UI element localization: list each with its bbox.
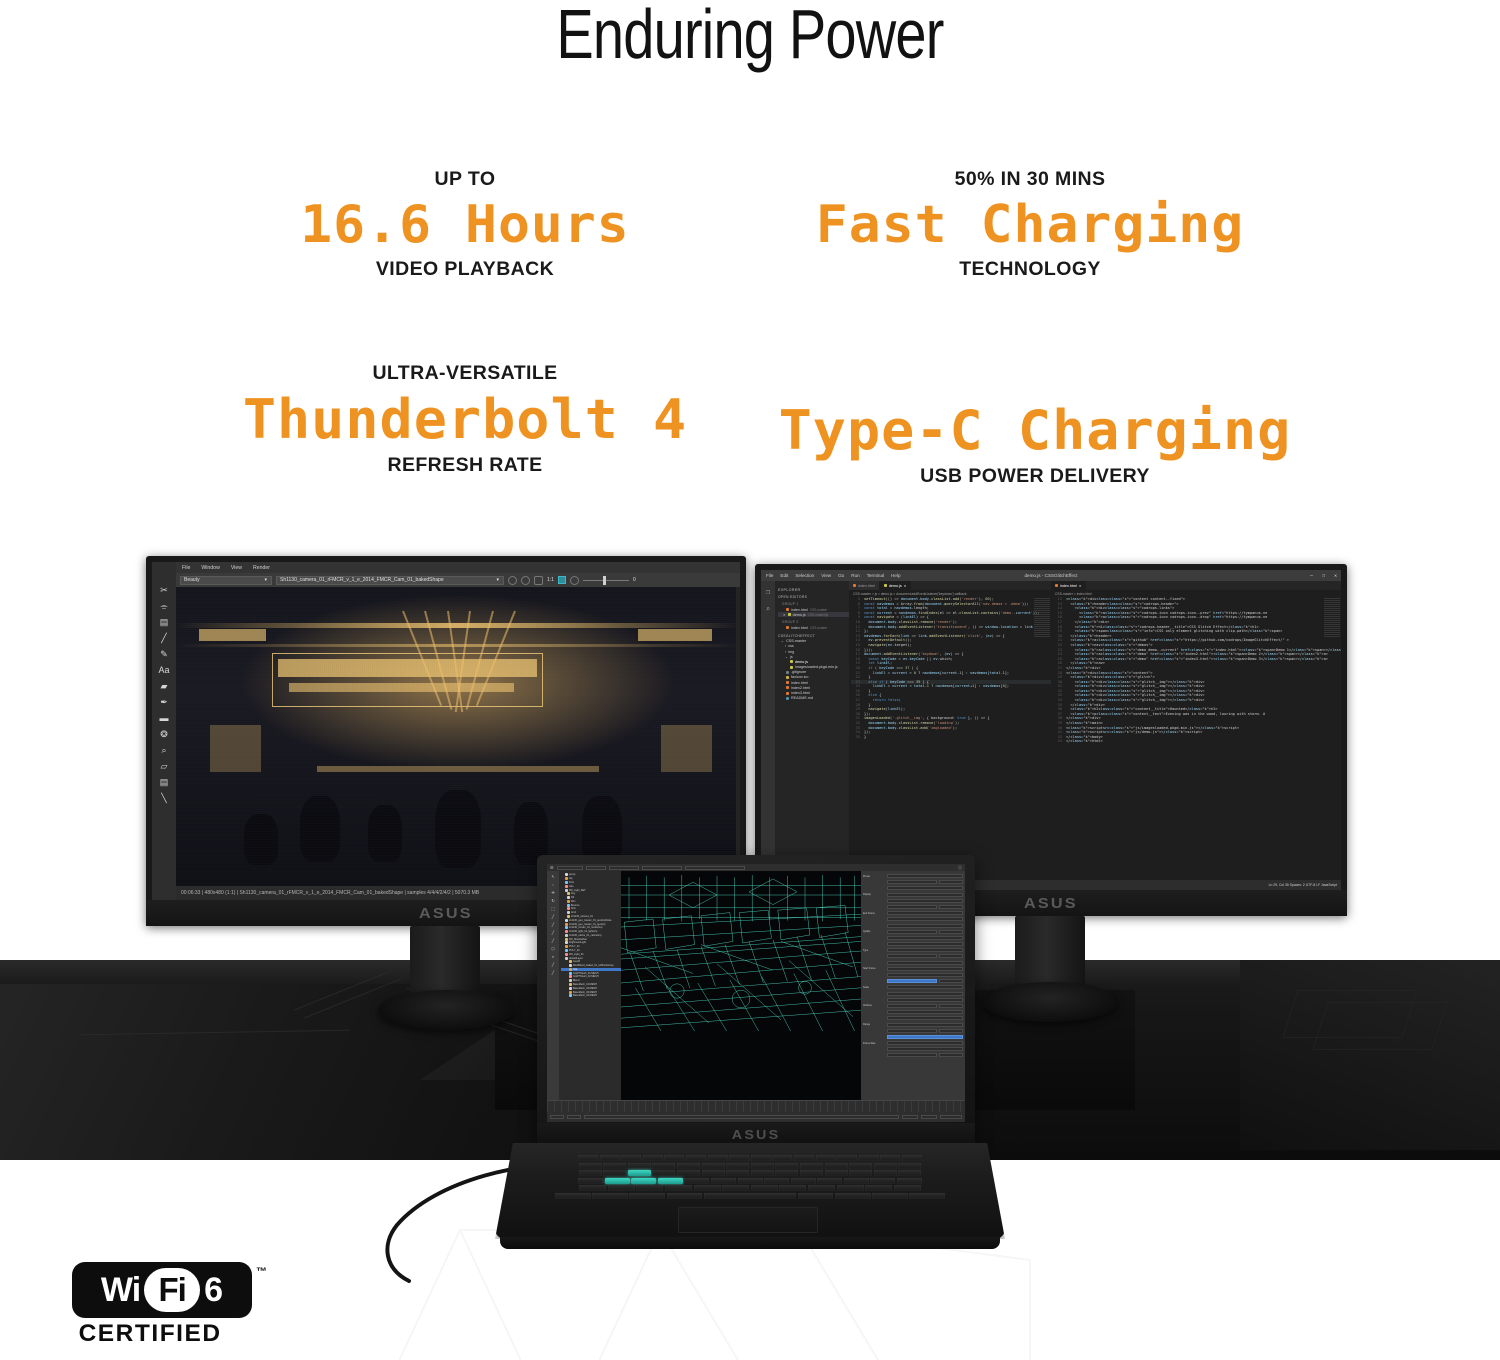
- keyboard-key[interactable]: [835, 1193, 871, 1199]
- attribute-field-secondary[interactable]: [939, 880, 963, 884]
- object-icon: [569, 960, 572, 963]
- menu-item-run[interactable]: Run: [851, 573, 859, 578]
- keyboard-key[interactable]: [628, 1163, 651, 1169]
- keyboard-key[interactable]: [702, 1170, 725, 1176]
- outliner-item-label: Amb: [571, 911, 576, 914]
- attribute-field[interactable]: [887, 942, 963, 946]
- attribute-field[interactable]: [887, 936, 963, 940]
- attribute-row[interactable]: [863, 899, 963, 903]
- keyboard-key[interactable]: [555, 1193, 591, 1199]
- code-line: 43</class="k">html>: [1053, 739, 1341, 744]
- close-icon[interactable]: ✕: [783, 613, 786, 617]
- outliner-item[interactable]: BaseMesh_04:MESH: [561, 994, 621, 998]
- keyboard-key[interactable]: [894, 1185, 921, 1191]
- markdown-file-icon: [786, 697, 789, 700]
- attribute-field[interactable]: [887, 1010, 963, 1014]
- keyboard-key[interactable]: [621, 1155, 641, 1161]
- attribute-row[interactable]: [863, 1029, 963, 1033]
- editor-breadcrumb[interactable]: CSS-master > index.html: [1051, 590, 1341, 597]
- region-render-icon[interactable]: [558, 576, 566, 584]
- keyboard-row: [555, 1163, 945, 1169]
- attribute-field[interactable]: [887, 967, 963, 971]
- attribute-row[interactable]: End Frame: [863, 911, 963, 915]
- attribute-row[interactable]: [863, 917, 963, 921]
- keyboard-key[interactable]: [837, 1185, 864, 1191]
- attribute-row[interactable]: [863, 1010, 963, 1014]
- attribute-row[interactable]: Quality: [863, 930, 963, 934]
- attribute-field[interactable]: [887, 905, 937, 909]
- object-icon: [565, 930, 568, 933]
- laptop-trackpad[interactable]: [678, 1207, 818, 1233]
- tab-index-html[interactable]: index.html: [849, 581, 880, 590]
- gear-icon[interactable]: [570, 576, 579, 585]
- html-file-icon: [786, 692, 789, 695]
- close-icon[interactable]: ✕: [1079, 584, 1082, 588]
- keyboard-key[interactable]: [608, 1185, 635, 1191]
- keyboard-key[interactable]: [898, 1163, 921, 1169]
- lasso-icon[interactable]: ◌: [552, 882, 554, 887]
- laptop-keyboard[interactable]: [555, 1155, 945, 1203]
- outliner-item-label: top: [569, 877, 572, 880]
- measure-icon[interactable]: ╱: [552, 962, 554, 967]
- editor-minimap[interactable]: [1034, 598, 1050, 638]
- keyboard-key[interactable]: [667, 1193, 703, 1199]
- attribute-row[interactable]: Frame Rate: [863, 1041, 963, 1045]
- range-field[interactable]: [902, 1115, 918, 1119]
- attribute-field[interactable]: [887, 911, 963, 915]
- tree-item-label: README.md: [791, 696, 813, 700]
- keyboard-key[interactable]: [684, 1178, 709, 1184]
- keyboard-key[interactable]: [844, 1178, 869, 1184]
- keyboard-key[interactable]: [800, 1163, 823, 1169]
- attribute-row[interactable]: [863, 905, 963, 909]
- keyboard-key[interactable]: [629, 1193, 665, 1199]
- attribute-label: Type: [863, 949, 885, 952]
- outliner-item[interactable]: RootBlend_baked_01_refRootGroup: [561, 964, 621, 968]
- keyboard-key[interactable]: [652, 1163, 675, 1169]
- keyboard-key-highlighted[interactable]: [658, 1178, 683, 1184]
- feature-headline: Type-C Charging: [749, 402, 1320, 460]
- keyboard-key[interactable]: [817, 1178, 842, 1184]
- menu-icon[interactable]: ☰: [550, 865, 554, 870]
- keyboard-key[interactable]: [764, 1178, 789, 1184]
- eyedropper-icon[interactable]: ⌯: [160, 602, 167, 611]
- open-editor-path: CSS-master/js: [808, 613, 829, 617]
- pencil-icon[interactable]: ✎: [160, 650, 168, 659]
- attribute-field[interactable]: [887, 1035, 963, 1039]
- keyboard-key[interactable]: [816, 1155, 836, 1161]
- wireframe-render: [621, 871, 861, 1031]
- scale-icon[interactable]: ⬚: [551, 906, 555, 911]
- keyboard-key[interactable]: [837, 1155, 857, 1161]
- file-dropdown[interactable]: Sh1130_camera_01_rFMCR_v_1_e_2014_FMCR_C…: [276, 576, 504, 585]
- close-icon[interactable]: ✕: [904, 584, 907, 588]
- attribute-field[interactable]: [887, 979, 937, 983]
- section-project-root[interactable]: CSSGLITCHEFFECT: [778, 634, 849, 638]
- attribute-field-secondary[interactable]: [939, 1004, 963, 1008]
- keyboard-key[interactable]: [874, 1163, 897, 1169]
- text-tool-icon[interactable]: Aa: [158, 666, 169, 675]
- attribute-field[interactable]: [887, 917, 963, 921]
- attribute-field[interactable]: [887, 874, 963, 878]
- keyboard-key[interactable]: [872, 1193, 908, 1199]
- tab-demo-js[interactable]: demo.js ✕: [880, 581, 911, 590]
- attribute-row[interactable]: Start Frame: [863, 967, 963, 971]
- keyboard-key[interactable]: [603, 1163, 626, 1169]
- keyboard-key[interactable]: [751, 1155, 771, 1161]
- keyboard-key[interactable]: [694, 1185, 721, 1191]
- object-icon: [565, 923, 568, 926]
- keyboard-key[interactable]: [849, 1163, 872, 1169]
- feature-headline: Thunderbolt 4: [179, 391, 750, 449]
- keyboard-key[interactable]: [794, 1155, 814, 1161]
- keyboard-key-highlighted[interactable]: [631, 1178, 656, 1184]
- zoom-ratio-label[interactable]: 1:1: [547, 577, 554, 583]
- attribute-row[interactable]: [863, 1016, 963, 1020]
- attribute-field[interactable]: [887, 985, 963, 989]
- toolbar-field[interactable]: [586, 866, 606, 870]
- object-icon: [565, 953, 568, 956]
- keyboard-key[interactable]: [870, 1178, 895, 1184]
- attribute-row[interactable]: [863, 880, 963, 884]
- select-icon[interactable]: ↖: [551, 874, 554, 879]
- menu-item-terminal[interactable]: Terminal: [867, 573, 884, 578]
- color-wheel-icon[interactable]: ❂: [160, 730, 168, 739]
- object-icon: [569, 987, 572, 990]
- tree-item-label: css: [788, 644, 794, 648]
- folder-icon[interactable]: ▬: [160, 714, 169, 723]
- search-icon[interactable]: ⌕: [766, 605, 770, 613]
- attribute-row[interactable]: [863, 942, 963, 946]
- open-editor-item[interactable]: index.html CSS-master: [778, 625, 849, 630]
- html-file-icon: [853, 584, 856, 587]
- attribute-field[interactable]: [887, 893, 963, 897]
- keyboard-key[interactable]: [579, 1185, 606, 1191]
- attribute-row[interactable]: Preset: [863, 874, 963, 878]
- keyboard-key[interactable]: [798, 1193, 834, 1199]
- menu-item-view[interactable]: View: [231, 565, 242, 571]
- keyboard-key[interactable]: [779, 1185, 806, 1191]
- attribute-row[interactable]: Scale: [863, 985, 963, 989]
- line-icon[interactable]: ╱: [552, 970, 554, 975]
- rotate-icon[interactable]: ↻: [551, 898, 554, 903]
- keyboard-key[interactable]: [636, 1185, 663, 1191]
- keyboard-key[interactable]: [738, 1178, 763, 1184]
- keyboard-key[interactable]: [726, 1163, 749, 1169]
- object-icon: [565, 926, 568, 929]
- keyboard-key[interactable]: [578, 1155, 598, 1161]
- attribute-label: Scale: [863, 986, 885, 989]
- attribute-field-secondary[interactable]: [939, 1053, 963, 1057]
- feature-caption-top: ULTRA-VERSATILE: [185, 362, 745, 385]
- object-icon: [569, 991, 572, 994]
- keyboard-key[interactable]: [711, 1178, 736, 1184]
- js-file-icon: [790, 660, 793, 663]
- sculpt-icon[interactable]: ╱: [552, 922, 554, 927]
- menu-item-file[interactable]: File: [182, 565, 190, 571]
- zoom-icon[interactable]: ⌕: [552, 954, 554, 959]
- snap-icon[interactable]: ⬡: [551, 946, 555, 951]
- keyboard-key[interactable]: [791, 1178, 816, 1184]
- attribute-field-secondary[interactable]: [939, 905, 963, 909]
- keyboard-key[interactable]: [859, 1155, 879, 1161]
- toolbar-field[interactable]: [557, 866, 583, 870]
- tree-item-label: index2.html: [791, 686, 810, 690]
- keyboard-key[interactable]: [652, 1170, 675, 1176]
- chevron-down-icon: ▾: [264, 577, 267, 583]
- attribute-field-secondary[interactable]: [939, 954, 963, 958]
- close-icon[interactable]: ✕: [1334, 573, 1337, 579]
- attribute-field[interactable]: [887, 1023, 963, 1027]
- scissors-icon[interactable]: ✂: [160, 586, 168, 595]
- attribute-row[interactable]: Range: [863, 1023, 963, 1027]
- attribute-row[interactable]: [863, 961, 963, 965]
- menu-item-window[interactable]: Window: [201, 565, 219, 571]
- asus-laptop: ☰ ⓘ ↖ ◌ ✛ ↻ ⬚ ╱: [495, 855, 1005, 1275]
- 3d-timeline[interactable]: [547, 1100, 965, 1112]
- range-field[interactable]: [921, 1115, 937, 1119]
- keyboard-key[interactable]: [751, 1163, 774, 1169]
- pin-icon[interactable]: [534, 576, 543, 585]
- keyboard-key[interactable]: [603, 1170, 626, 1176]
- attribute-field[interactable]: [887, 961, 963, 965]
- menu-item-edit[interactable]: Edit: [780, 573, 788, 578]
- attribute-field[interactable]: [887, 1029, 937, 1033]
- move-icon[interactable]: ✛: [551, 890, 554, 895]
- attribute-field[interactable]: [887, 924, 963, 928]
- attribute-field[interactable]: [887, 1047, 963, 1051]
- tab-label: index.html: [1060, 584, 1077, 588]
- attribute-field[interactable]: [887, 973, 963, 977]
- snapshot-icon[interactable]: [521, 576, 530, 585]
- attribute-field-secondary[interactable]: [939, 930, 963, 934]
- outliner-item-label: Bounce: [571, 904, 579, 907]
- outliner-item-label: Grp: [573, 968, 577, 971]
- explorer-icon[interactable]: ❐: [766, 588, 770, 596]
- toolbar-field[interactable]: [642, 866, 682, 870]
- keyboard-key[interactable]: [880, 1155, 900, 1161]
- attribute-field[interactable]: [887, 948, 963, 952]
- frame-field[interactable]: [567, 1115, 581, 1119]
- keyboard-key[interactable]: [643, 1155, 663, 1161]
- keyboard-key[interactable]: [751, 1170, 774, 1176]
- viewport-scrollbar[interactable]: [736, 587, 740, 886]
- keyboard-key[interactable]: [800, 1170, 823, 1176]
- editor-minimap[interactable]: [1324, 598, 1340, 638]
- tree-item-label: favicon.ico: [791, 675, 808, 679]
- attribute-row[interactable]: [863, 954, 963, 958]
- outliner-item-label: sh1130_light_01_lightGrp: [569, 930, 597, 933]
- attribute-field-secondary[interactable]: [939, 979, 963, 983]
- attribute-field[interactable]: [887, 1004, 937, 1008]
- keyboard-key[interactable]: [704, 1193, 797, 1199]
- attribute-field[interactable]: [887, 899, 963, 903]
- attribute-row[interactable]: [863, 1047, 963, 1051]
- keyboard-key[interactable]: [722, 1185, 749, 1191]
- keyboard-key[interactable]: [874, 1170, 897, 1176]
- keyboard-key[interactable]: [902, 1155, 922, 1161]
- outliner-item-label: Blend: [573, 979, 579, 982]
- feature-block-thunderbolt: ULTRA-VERSATILE Thunderbolt 4 REFRESH RA…: [185, 362, 745, 477]
- outliner-item-label: sh1130_camera_01: [571, 915, 593, 918]
- attribute-row[interactable]: [863, 936, 963, 940]
- editor-tabs: index.html demo.js ✕: [849, 581, 1051, 590]
- 3d-viewport[interactable]: [621, 871, 861, 1100]
- keyboard-key[interactable]: [677, 1170, 700, 1176]
- keyboard-key[interactable]: [825, 1170, 848, 1176]
- outliner-item-label: BaseMesh_01:MESH: [573, 983, 597, 986]
- tree-item-label: index.html: [791, 681, 808, 685]
- keyboard-key[interactable]: [865, 1185, 892, 1191]
- attribute-row[interactable]: Type: [863, 948, 963, 952]
- section-group-1[interactable]: GROUP 1: [778, 602, 849, 606]
- keyboard-key[interactable]: [825, 1163, 848, 1169]
- attribute-field[interactable]: [887, 930, 937, 934]
- code-content-left[interactable]: 5setTimeout(() => document.body.classLis…: [849, 597, 1051, 880]
- keyboard-key[interactable]: [579, 1170, 602, 1176]
- toolbar-field[interactable]: [609, 866, 639, 870]
- tab-index-html[interactable]: index.html ✕: [1051, 581, 1086, 590]
- keyboard-key[interactable]: [592, 1193, 628, 1199]
- keyboard-key[interactable]: [686, 1155, 706, 1161]
- keyboard-key[interactable]: [578, 1178, 603, 1184]
- record-icon[interactable]: [508, 576, 517, 585]
- info-icon[interactable]: ⓘ: [958, 865, 962, 871]
- keyboard-key[interactable]: [708, 1155, 728, 1161]
- paint-icon[interactable]: ╱: [552, 930, 554, 935]
- render-viewer-menubar: File Window View Render: [176, 562, 740, 573]
- knife-icon[interactable]: ╱: [552, 938, 554, 943]
- outliner-item-label: Key: [571, 892, 575, 895]
- keyboard-key[interactable]: [579, 1163, 602, 1169]
- editor-tabs: index.html ✕: [1051, 581, 1341, 590]
- layers-icon[interactable]: ▤: [160, 778, 169, 787]
- editor-breadcrumb[interactable]: CSS-master > js > demo.js > document.add…: [849, 590, 1051, 597]
- keyboard-key[interactable]: [664, 1155, 684, 1161]
- attribute-row[interactable]: [863, 973, 963, 977]
- attribute-field[interactable]: [887, 886, 963, 890]
- attribute-field[interactable]: [887, 1053, 937, 1057]
- clipboard-icon[interactable]: ▤: [160, 618, 169, 627]
- 3d-outliner-panel[interactable]: persptopfrontsideRN_Light_SETKeyFillRimB…: [559, 871, 621, 1100]
- vscode-app: File Edit Selection View Go Run Terminal…: [761, 570, 1341, 890]
- menu-item-help[interactable]: Help: [891, 573, 900, 578]
- section-group-2[interactable]: GROUP 2: [778, 620, 849, 624]
- keyboard-key[interactable]: [677, 1163, 700, 1169]
- monitor-left-base: [378, 990, 514, 1030]
- section-open-editors[interactable]: OPEN EDITORS: [778, 595, 849, 599]
- keyboard-key[interactable]: [909, 1193, 945, 1199]
- feature-caption-bottom: VIDEO PLAYBACK: [205, 258, 725, 281]
- laptop-front-edge: [500, 1237, 1000, 1249]
- chevron-right-icon: ›: [785, 644, 786, 648]
- menu-item-selection[interactable]: Selection: [795, 573, 814, 578]
- object-icon: [565, 877, 568, 880]
- tree-item[interactable]: README.md: [778, 696, 849, 701]
- menu-item-render[interactable]: Render: [253, 565, 270, 571]
- zoom-icon[interactable]: ⌕: [161, 746, 166, 755]
- feature-caption-top: UP TO: [205, 168, 725, 191]
- object-icon: [565, 919, 568, 922]
- keyboard-key[interactable]: [849, 1170, 872, 1176]
- command-field[interactable]: [584, 1115, 899, 1119]
- exposure-slider[interactable]: [583, 580, 629, 581]
- keyboard-key[interactable]: [729, 1155, 749, 1161]
- menu-item-go[interactable]: Go: [838, 573, 844, 578]
- keyboard-key[interactable]: [775, 1163, 798, 1169]
- minimize-icon[interactable]: —: [1310, 573, 1313, 579]
- keyboard-key[interactable]: [775, 1170, 798, 1176]
- menu-item-view[interactable]: View: [821, 573, 831, 578]
- code-content-right[interactable]: 12<class="k">div class=class="s">"conten…: [1051, 597, 1341, 880]
- pen-icon[interactable]: ✒: [160, 698, 168, 707]
- product-feature-page: Enduring Power UP TO 16.6 Hours VIDEO PL…: [0, 0, 1500, 1360]
- keyboard-key-highlighted[interactable]: [628, 1170, 651, 1176]
- attribute-row[interactable]: Attribute: [863, 1004, 963, 1008]
- keyboard-key-highlighted[interactable]: [605, 1178, 630, 1184]
- keyboard-key[interactable]: [751, 1185, 778, 1191]
- outliner-item-label: RN_Light_01: [569, 953, 584, 956]
- eraser-icon[interactable]: ▰: [161, 682, 168, 691]
- open-editor-item-active[interactable]: ✕ demo.js CSS-master/js: [778, 612, 849, 617]
- playback-field[interactable]: [940, 1115, 962, 1119]
- attribute-field[interactable]: [887, 954, 937, 958]
- code-line: 11 document.body.addEventListener('trans…: [851, 625, 1051, 630]
- attribute-field[interactable]: [887, 998, 963, 1002]
- attribute-row[interactable]: [863, 886, 963, 890]
- attribute-row[interactable]: [863, 998, 963, 1002]
- outliner-item-label: sh1130_cache_01_cacheGrp: [569, 934, 601, 937]
- status-editor-info[interactable]: Ln 29, Col 35 Spaces: 2 UTF-8 LF JavaScr…: [1269, 883, 1337, 887]
- attribute-field[interactable]: [887, 1041, 963, 1045]
- keyboard-row: [555, 1170, 945, 1176]
- attribute-row[interactable]: [863, 1053, 963, 1057]
- toolbar-field[interactable]: [685, 866, 745, 870]
- object-icon: [569, 979, 572, 982]
- attribute-field-secondary[interactable]: [939, 1029, 963, 1033]
- attribute-field[interactable]: [887, 880, 937, 884]
- frame-field[interactable]: [550, 1115, 564, 1119]
- keyboard-key[interactable]: [897, 1178, 922, 1184]
- attribute-row[interactable]: [863, 992, 963, 996]
- laptop-lid-chin: ASUS: [537, 1123, 975, 1145]
- attribute-field[interactable]: [887, 1016, 963, 1020]
- maximize-icon[interactable]: ❐: [1322, 573, 1325, 579]
- line-icon[interactable]: ╲: [161, 794, 166, 803]
- brush-icon[interactable]: ╱: [161, 634, 166, 643]
- render-viewport[interactable]: [176, 587, 740, 886]
- layer-dropdown[interactable]: Beauty ▾: [180, 576, 272, 585]
- wifi6-certified-badge: Wi Fi 6 ™ CERTIFIED: [72, 1262, 272, 1354]
- keyboard-key[interactable]: [726, 1170, 749, 1176]
- attribute-field[interactable]: [887, 992, 963, 996]
- keyboard-key[interactable]: [772, 1155, 792, 1161]
- js-file-icon: [790, 666, 793, 669]
- attribute-row[interactable]: [863, 924, 963, 928]
- brush-icon[interactable]: ╱: [552, 914, 554, 919]
- keyboard-key[interactable]: [898, 1170, 921, 1176]
- attribute-row[interactable]: [863, 1035, 963, 1039]
- attribute-row[interactable]: Display: [863, 893, 963, 897]
- menu-item-file[interactable]: File: [766, 573, 773, 578]
- 3d-attribute-editor[interactable]: PresetDisplayEnd FrameQualityTypeStart F…: [861, 871, 965, 1100]
- keyboard-key[interactable]: [808, 1185, 835, 1191]
- ruler-icon[interactable]: ▱: [161, 762, 168, 771]
- keyboard-key[interactable]: [702, 1163, 725, 1169]
- attribute-row[interactable]: [863, 979, 963, 983]
- keyboard-key[interactable]: [665, 1185, 692, 1191]
- keyboard-key[interactable]: [600, 1155, 620, 1161]
